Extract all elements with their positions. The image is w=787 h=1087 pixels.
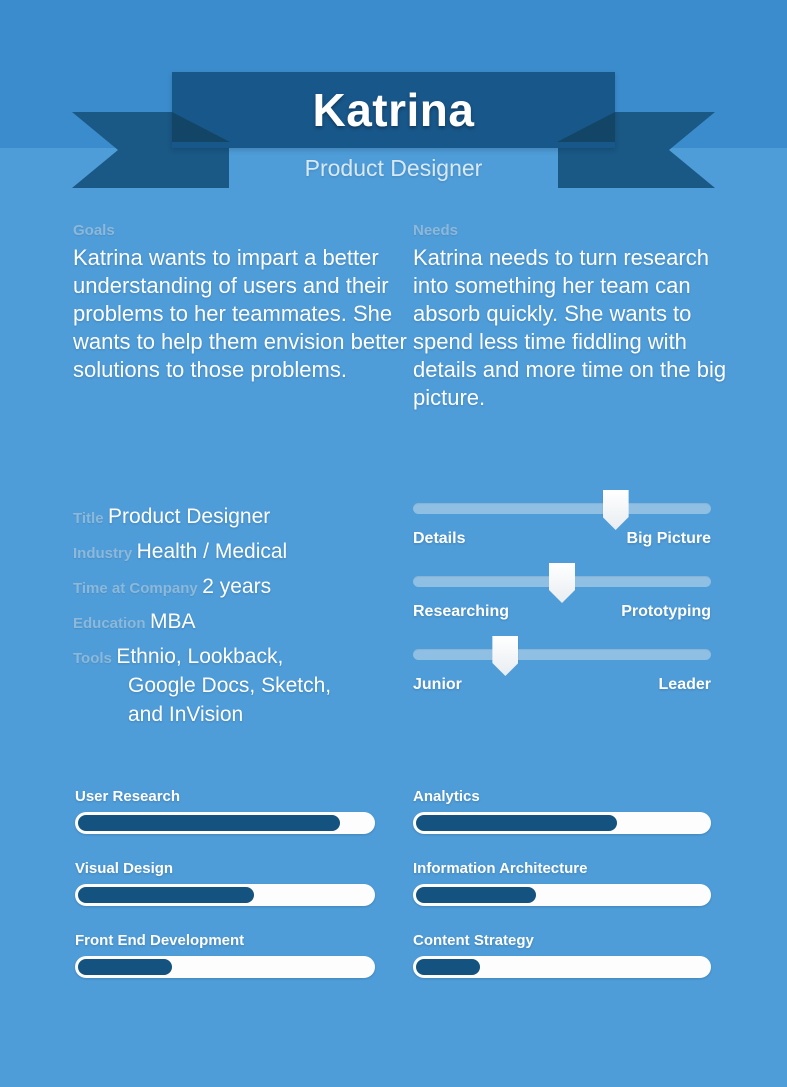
skill-fill	[416, 887, 536, 903]
skill-label: Visual Design	[75, 860, 375, 877]
attribute-row-tools: Tools Ethnio, Lookback, Google Docs, Ske…	[73, 643, 403, 730]
slider-label-left: Junior	[413, 676, 462, 694]
attribute-value-tools-line2: Google Docs, Sketch,	[128, 674, 331, 697]
slider-thumb[interactable]	[549, 563, 575, 603]
slider-researching-prototyping[interactable]: Researching Prototyping	[413, 576, 711, 621]
attribute-value-tools-line3: and InVision	[128, 703, 243, 726]
attribute-key: Time at Company	[73, 580, 198, 597]
slider-label-left: Details	[413, 530, 465, 548]
goals-label: Goals	[73, 222, 413, 239]
persona-role: Product Designer	[0, 155, 787, 182]
needs-label: Needs	[413, 222, 743, 239]
attribute-value: Health / Medical	[137, 540, 288, 563]
attribute-value: Product Designer	[108, 505, 270, 528]
skill-content-strategy: Content Strategy	[413, 932, 711, 978]
slider-track[interactable]	[413, 576, 711, 587]
slider-label-left: Researching	[413, 603, 509, 621]
skill-label: Content Strategy	[413, 932, 711, 949]
skill-fill	[416, 959, 480, 975]
skills-section: User Research Visual Design Front End De…	[0, 788, 787, 1004]
slider-labels: Junior Leader	[413, 676, 711, 694]
skill-bar	[75, 884, 375, 906]
needs-text: Katrina needs to turn research into some…	[413, 244, 743, 412]
slider-labels: Researching Prototyping	[413, 603, 711, 621]
attribute-value-tools-line1: Ethnio, Lookback,	[116, 645, 283, 668]
attribute-value: 2 years	[202, 575, 271, 598]
skill-label: User Research	[75, 788, 375, 805]
skills-column-left: User Research Visual Design Front End De…	[75, 788, 375, 1004]
persona-name: Katrina	[172, 72, 615, 148]
narrative-section: Goals Katrina wants to impart a better u…	[0, 222, 787, 412]
skill-front-end-development: Front End Development	[75, 932, 375, 978]
skill-label: Analytics	[413, 788, 711, 805]
skill-bar	[75, 956, 375, 978]
skill-fill	[78, 959, 172, 975]
skill-analytics: Analytics	[413, 788, 711, 834]
skill-label: Front End Development	[75, 932, 375, 949]
slider-label-right: Prototyping	[621, 603, 711, 621]
skill-user-research: User Research	[75, 788, 375, 834]
skill-label: Information Architecture	[413, 860, 711, 877]
attribute-row-title: Title Product Designer	[73, 503, 403, 532]
attribute-row-education: Education MBA	[73, 608, 403, 637]
attribute-key: Industry	[73, 545, 132, 562]
slider-track[interactable]	[413, 649, 711, 660]
slider-labels: Details Big Picture	[413, 530, 711, 548]
skill-bar	[413, 884, 711, 906]
slider-track[interactable]	[413, 503, 711, 514]
skill-fill	[416, 815, 617, 831]
attribute-key: Tools	[73, 650, 112, 667]
ribbon-header: Katrina Product Designer	[0, 60, 787, 205]
slider-label-right: Big Picture	[627, 530, 711, 548]
slider-section: Details Big Picture Researching Prototyp…	[413, 503, 711, 722]
skill-visual-design: Visual Design	[75, 860, 375, 906]
goals-block: Goals Katrina wants to impart a better u…	[73, 222, 413, 412]
skills-column-right: Analytics Information Architecture Conte…	[413, 788, 711, 1004]
skill-information-architecture: Information Architecture	[413, 860, 711, 906]
skill-fill	[78, 815, 340, 831]
needs-block: Needs Katrina needs to turn research int…	[413, 222, 743, 412]
attribute-key: Education	[73, 615, 146, 632]
slider-thumb[interactable]	[492, 636, 518, 676]
slider-junior-leader[interactable]: Junior Leader	[413, 649, 711, 694]
attribute-key: Title	[73, 510, 104, 527]
skill-bar	[75, 812, 375, 834]
attribute-row-industry: Industry Health / Medical	[73, 538, 403, 567]
attributes-list: Title Product Designer Industry Health /…	[73, 503, 403, 736]
skill-fill	[78, 887, 254, 903]
slider-label-right: Leader	[659, 676, 711, 694]
slider-thumb[interactable]	[603, 490, 629, 530]
skill-bar	[413, 812, 711, 834]
attribute-row-time-at-company: Time at Company 2 years	[73, 573, 403, 602]
skill-bar	[413, 956, 711, 978]
goals-text: Katrina wants to impart a better underst…	[73, 244, 413, 384]
attribute-value: MBA	[150, 610, 196, 633]
slider-details-big-picture[interactable]: Details Big Picture	[413, 503, 711, 548]
